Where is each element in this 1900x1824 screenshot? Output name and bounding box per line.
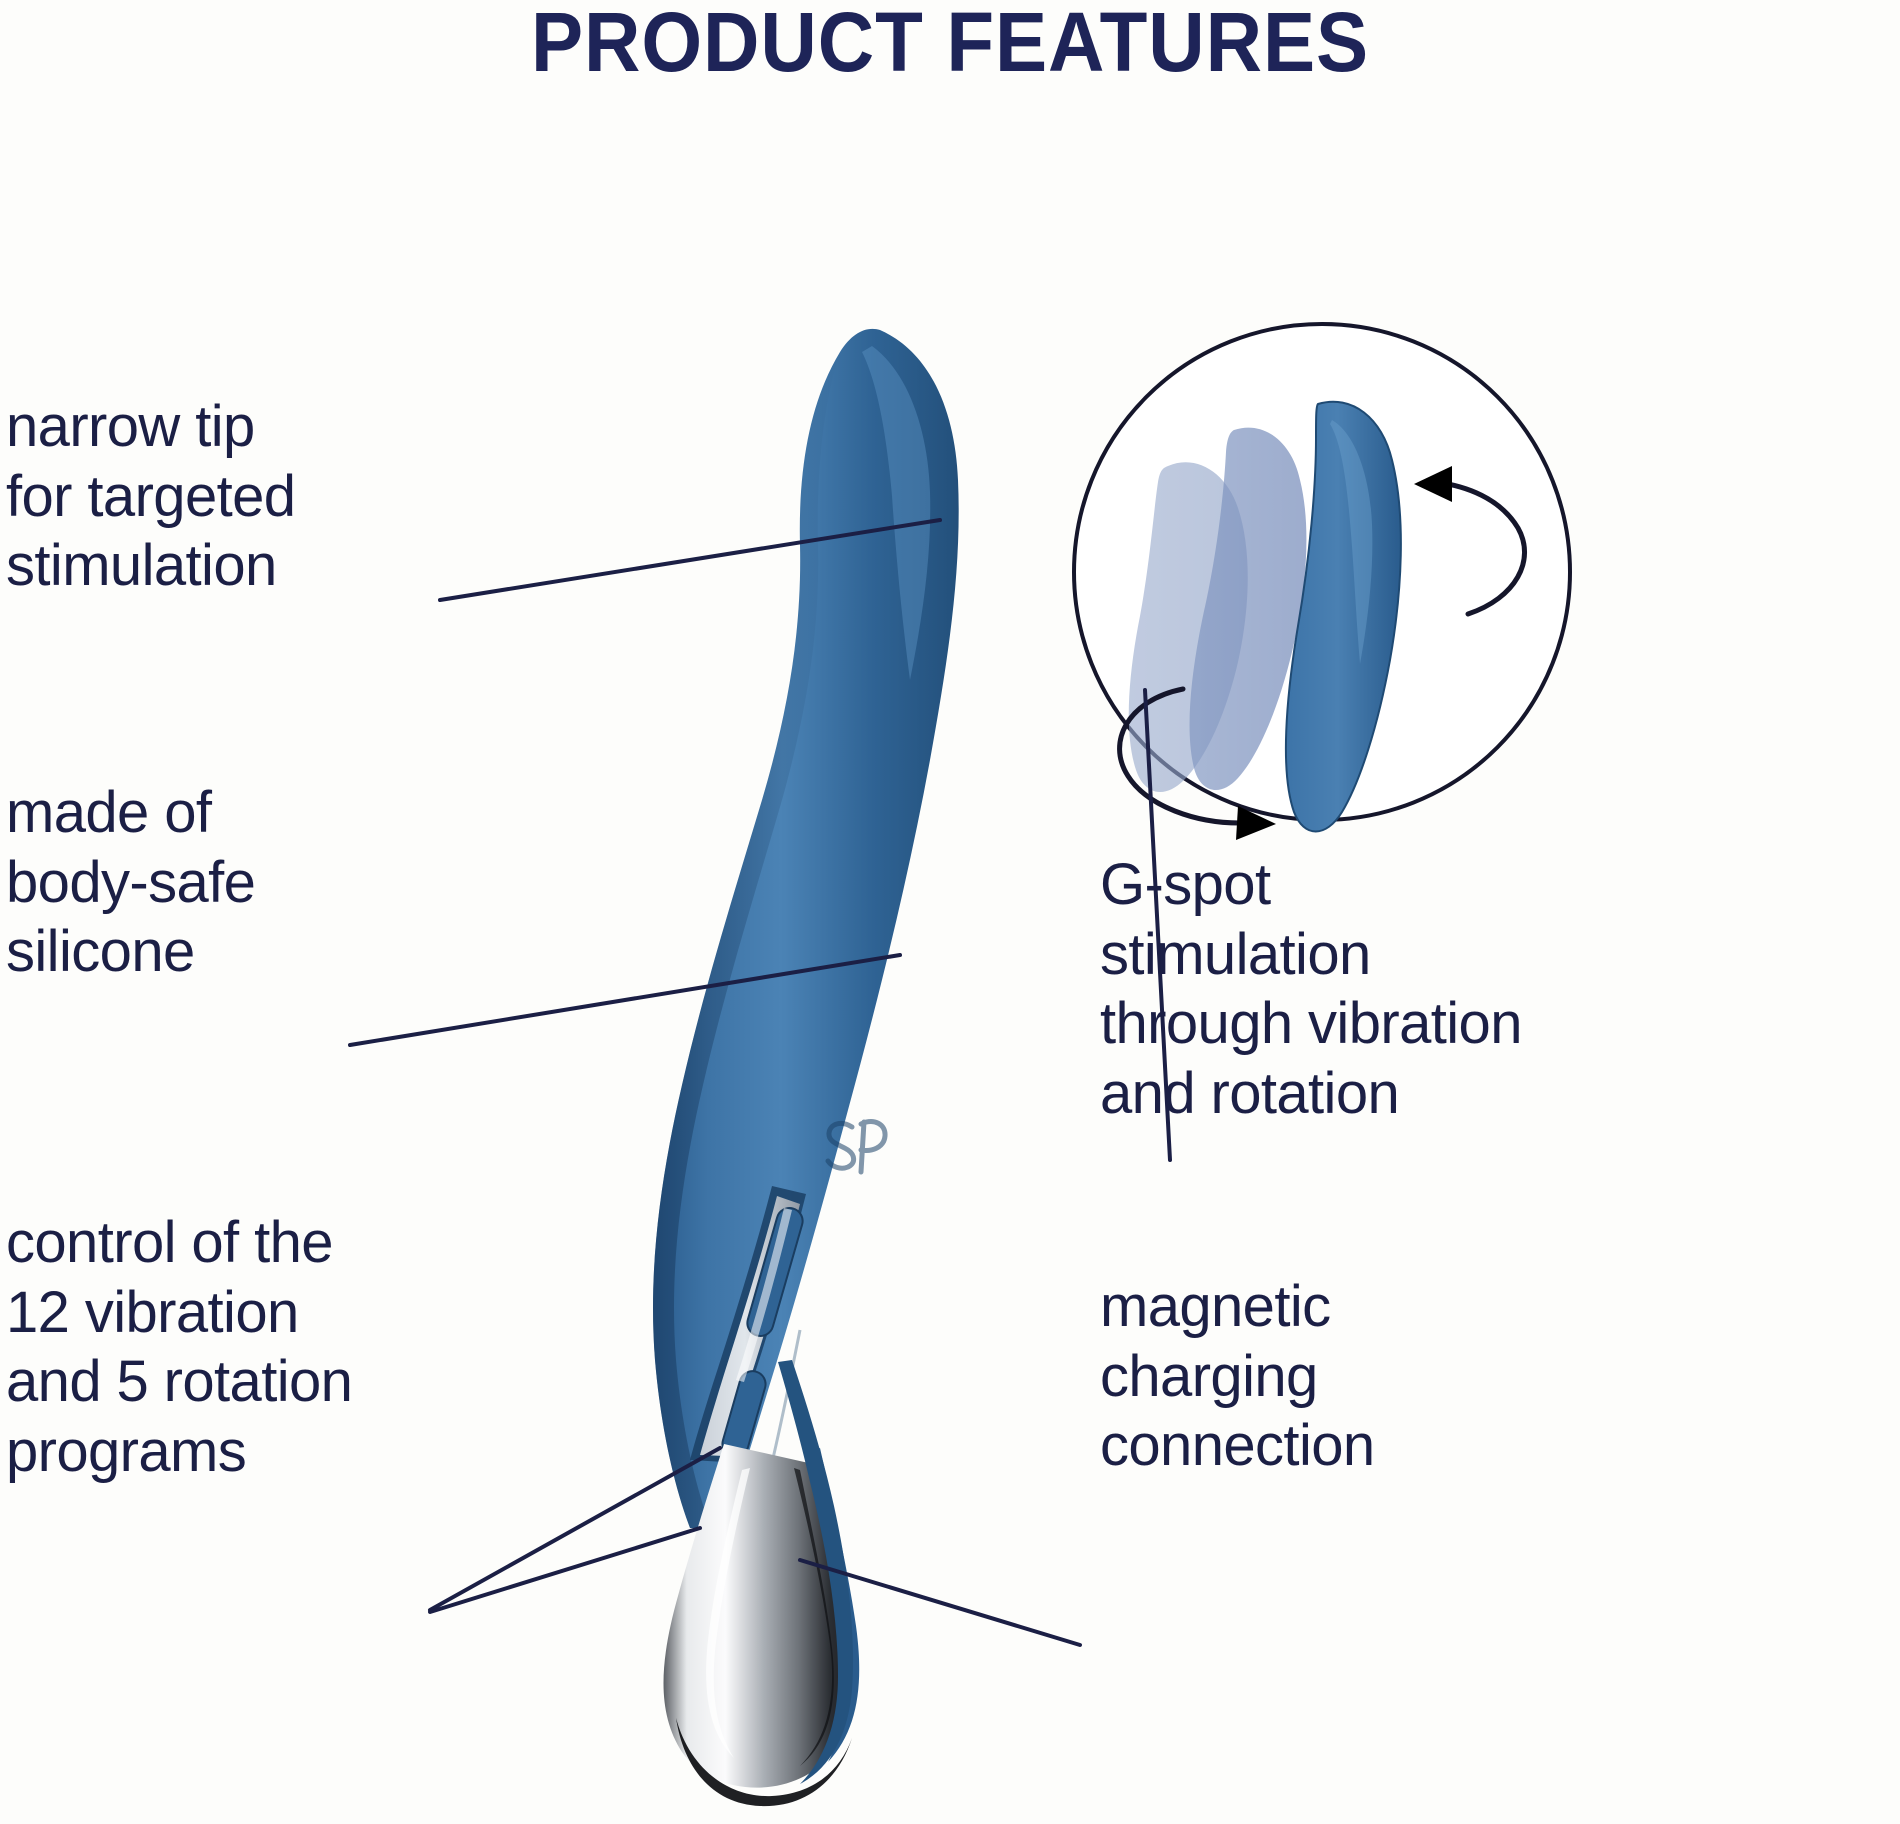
product-body-group: [653, 329, 959, 1806]
callout-body-safe-silicone: made of body-safe silicone: [6, 778, 406, 987]
callout-magnetic-charging: magnetic charging connection: [1100, 1272, 1740, 1481]
callout-programs-control: control of the 12 vibration and 5 rotati…: [6, 1208, 456, 1486]
callout-narrow-tip: narrow tip for targeted stimulation: [6, 392, 426, 601]
leader-control-lower: [430, 1528, 700, 1612]
leader-control-upper: [430, 1448, 720, 1610]
callout-g-spot-stimulation: G-spot stimulation through vibration and…: [1100, 850, 1890, 1128]
infographic-canvas: PRODUCT FEATURES: [0, 0, 1900, 1824]
